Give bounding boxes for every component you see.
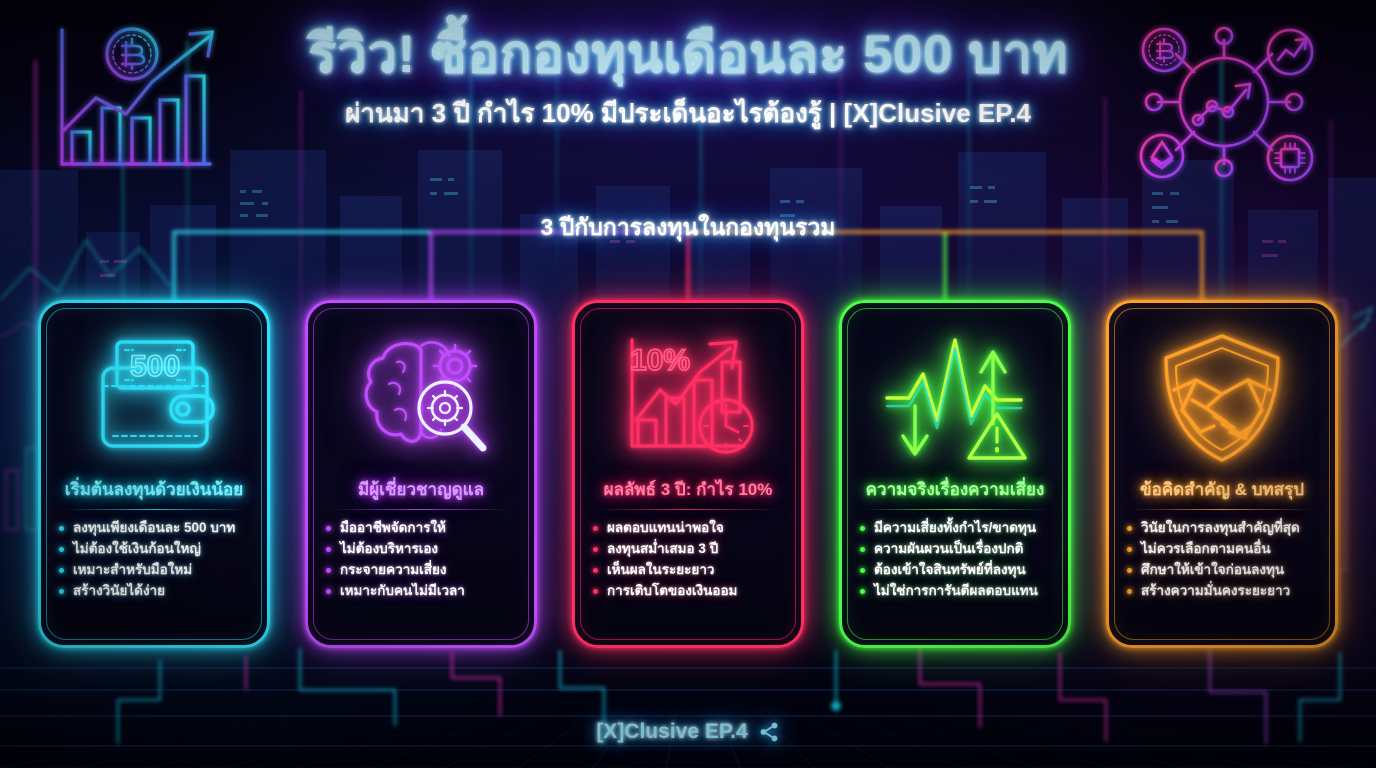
volatility-warning-icon	[849, 316, 1061, 480]
list-item: ความผันผวนเป็นเรื่องปกติ	[859, 539, 1057, 560]
list-item: เห็นผลในระยะยาว	[592, 560, 790, 581]
brain-gear-magnifier-icon	[315, 316, 527, 480]
list-item: ไม่ต้องบริหารเอง	[325, 539, 523, 560]
list-item: ผลตอบแทนน่าพอใจ	[592, 518, 790, 539]
list-item: มืออาชีพจัดการให้	[325, 518, 523, 539]
card-bullet-list: ผลตอบแทนน่าพอใจ ลงทุนสม่ำเสมอ 3 ปี เห็นผ…	[582, 518, 794, 602]
list-item: เหมาะสำหรับมือใหม่	[58, 560, 256, 581]
footer-label: [X]Clusive EP.4	[596, 720, 747, 744]
card-bullet-list: มืออาชีพจัดการให้ ไม่ต้องบริหารเอง กระจา…	[315, 518, 527, 602]
card-title: ความจริงเรื่องความเสี่ยง	[864, 480, 1047, 500]
section-banner: 3 ปีกับการลงทุนในกองทุนรวม	[515, 206, 862, 250]
divider	[864, 509, 1046, 510]
divider	[1131, 509, 1313, 510]
profit-percent-label: 10%	[630, 344, 690, 377]
divider	[597, 509, 779, 510]
share-icon[interactable]	[758, 721, 780, 743]
card-bullet-list: วินัยในการลงทุนสำคัญที่สุด ไม่ควรเลือกตา…	[1116, 518, 1328, 602]
card-title: ข้อคิดสำคัญ & บทสรุป	[1138, 480, 1306, 500]
card-risk-reality[interactable]: ความจริงเรื่องความเสี่ยง มีความเสี่ยงทั้…	[839, 300, 1071, 648]
growth-chart-clock-icon: 10%	[582, 316, 794, 480]
wallet-money-icon: 500	[48, 316, 260, 480]
wallet-amount-label: 500	[130, 350, 180, 383]
list-item: ต้องเข้าใจสินทรัพย์ที่ลงทุน	[859, 560, 1057, 581]
list-item: การเติบโตของเงินออม	[592, 581, 790, 602]
list-item: มีความเสี่ยงทั้งกำไร/ขาดทุน	[859, 518, 1057, 539]
card-expert-managed[interactable]: มีผู้เชี่ยวชาญดูแล มืออาชีพจัดการให้ ไม่…	[305, 300, 537, 648]
list-item: ลงทุนเพียงเดือนละ 500 บาท	[58, 518, 256, 539]
infographic-canvas: รีวิว! ซื้อกองทุนเดือนละ 500 บาท ผ่านมา …	[0, 0, 1376, 768]
cards-row: 500 เริ่มต้นลงทุนด้วยเงินน้อย ลงทุนเพียง…	[38, 300, 1338, 648]
card-title: ผลลัพธ์ 3 ปี: กำไร 10%	[602, 480, 775, 500]
list-item: วินัยในการลงทุนสำคัญที่สุด	[1126, 518, 1324, 539]
card-three-year-result[interactable]: 10% ผลลัพธ์ 3 ปี: กำไร 10% ผลตอบแทนน่าพอ…	[572, 300, 804, 648]
list-item: เหมาะกับคนไม่มีเวลา	[325, 581, 523, 602]
list-item: สร้างวินัยได้ง่าย	[58, 581, 256, 602]
list-item: ศึกษาให้เข้าใจก่อนลงทุน	[1126, 560, 1324, 581]
divider	[330, 509, 512, 510]
card-key-takeaways[interactable]: ข้อคิดสำคัญ & บทสรุป วินัยในการลงทุนสำคั…	[1106, 300, 1338, 648]
list-item: กระจายความเสี่ยง	[325, 560, 523, 581]
list-item: ไม่ต้องใช้เงินก้อนใหญ่	[58, 539, 256, 560]
list-item: ไม่ควรเลือกตามคนอื่น	[1126, 539, 1324, 560]
list-item: สร้างความมั่นคงระยะยาว	[1126, 581, 1324, 602]
list-item: ไม่ใช่การการันตีผลตอบแทน	[859, 581, 1057, 602]
card-bullet-list: มีความเสี่ยงทั้งกำไร/ขาดทุน ความผันผวนเป…	[849, 518, 1061, 602]
card-bullet-list: ลงทุนเพียงเดือนละ 500 บาท ไม่ต้องใช้เงิน…	[48, 518, 260, 602]
footer: [X]Clusive EP.4	[0, 720, 1376, 744]
divider	[63, 509, 245, 510]
card-title: เริ่มต้นลงทุนด้วยเงินน้อย	[63, 480, 245, 500]
card-title: มีผู้เชี่ยวชาญดูแล	[356, 480, 486, 500]
shield-handshake-icon	[1116, 316, 1328, 480]
card-start-small[interactable]: 500 เริ่มต้นลงทุนด้วยเงินน้อย ลงทุนเพียง…	[38, 300, 270, 648]
list-item: ลงทุนสม่ำเสมอ 3 ปี	[592, 539, 790, 560]
